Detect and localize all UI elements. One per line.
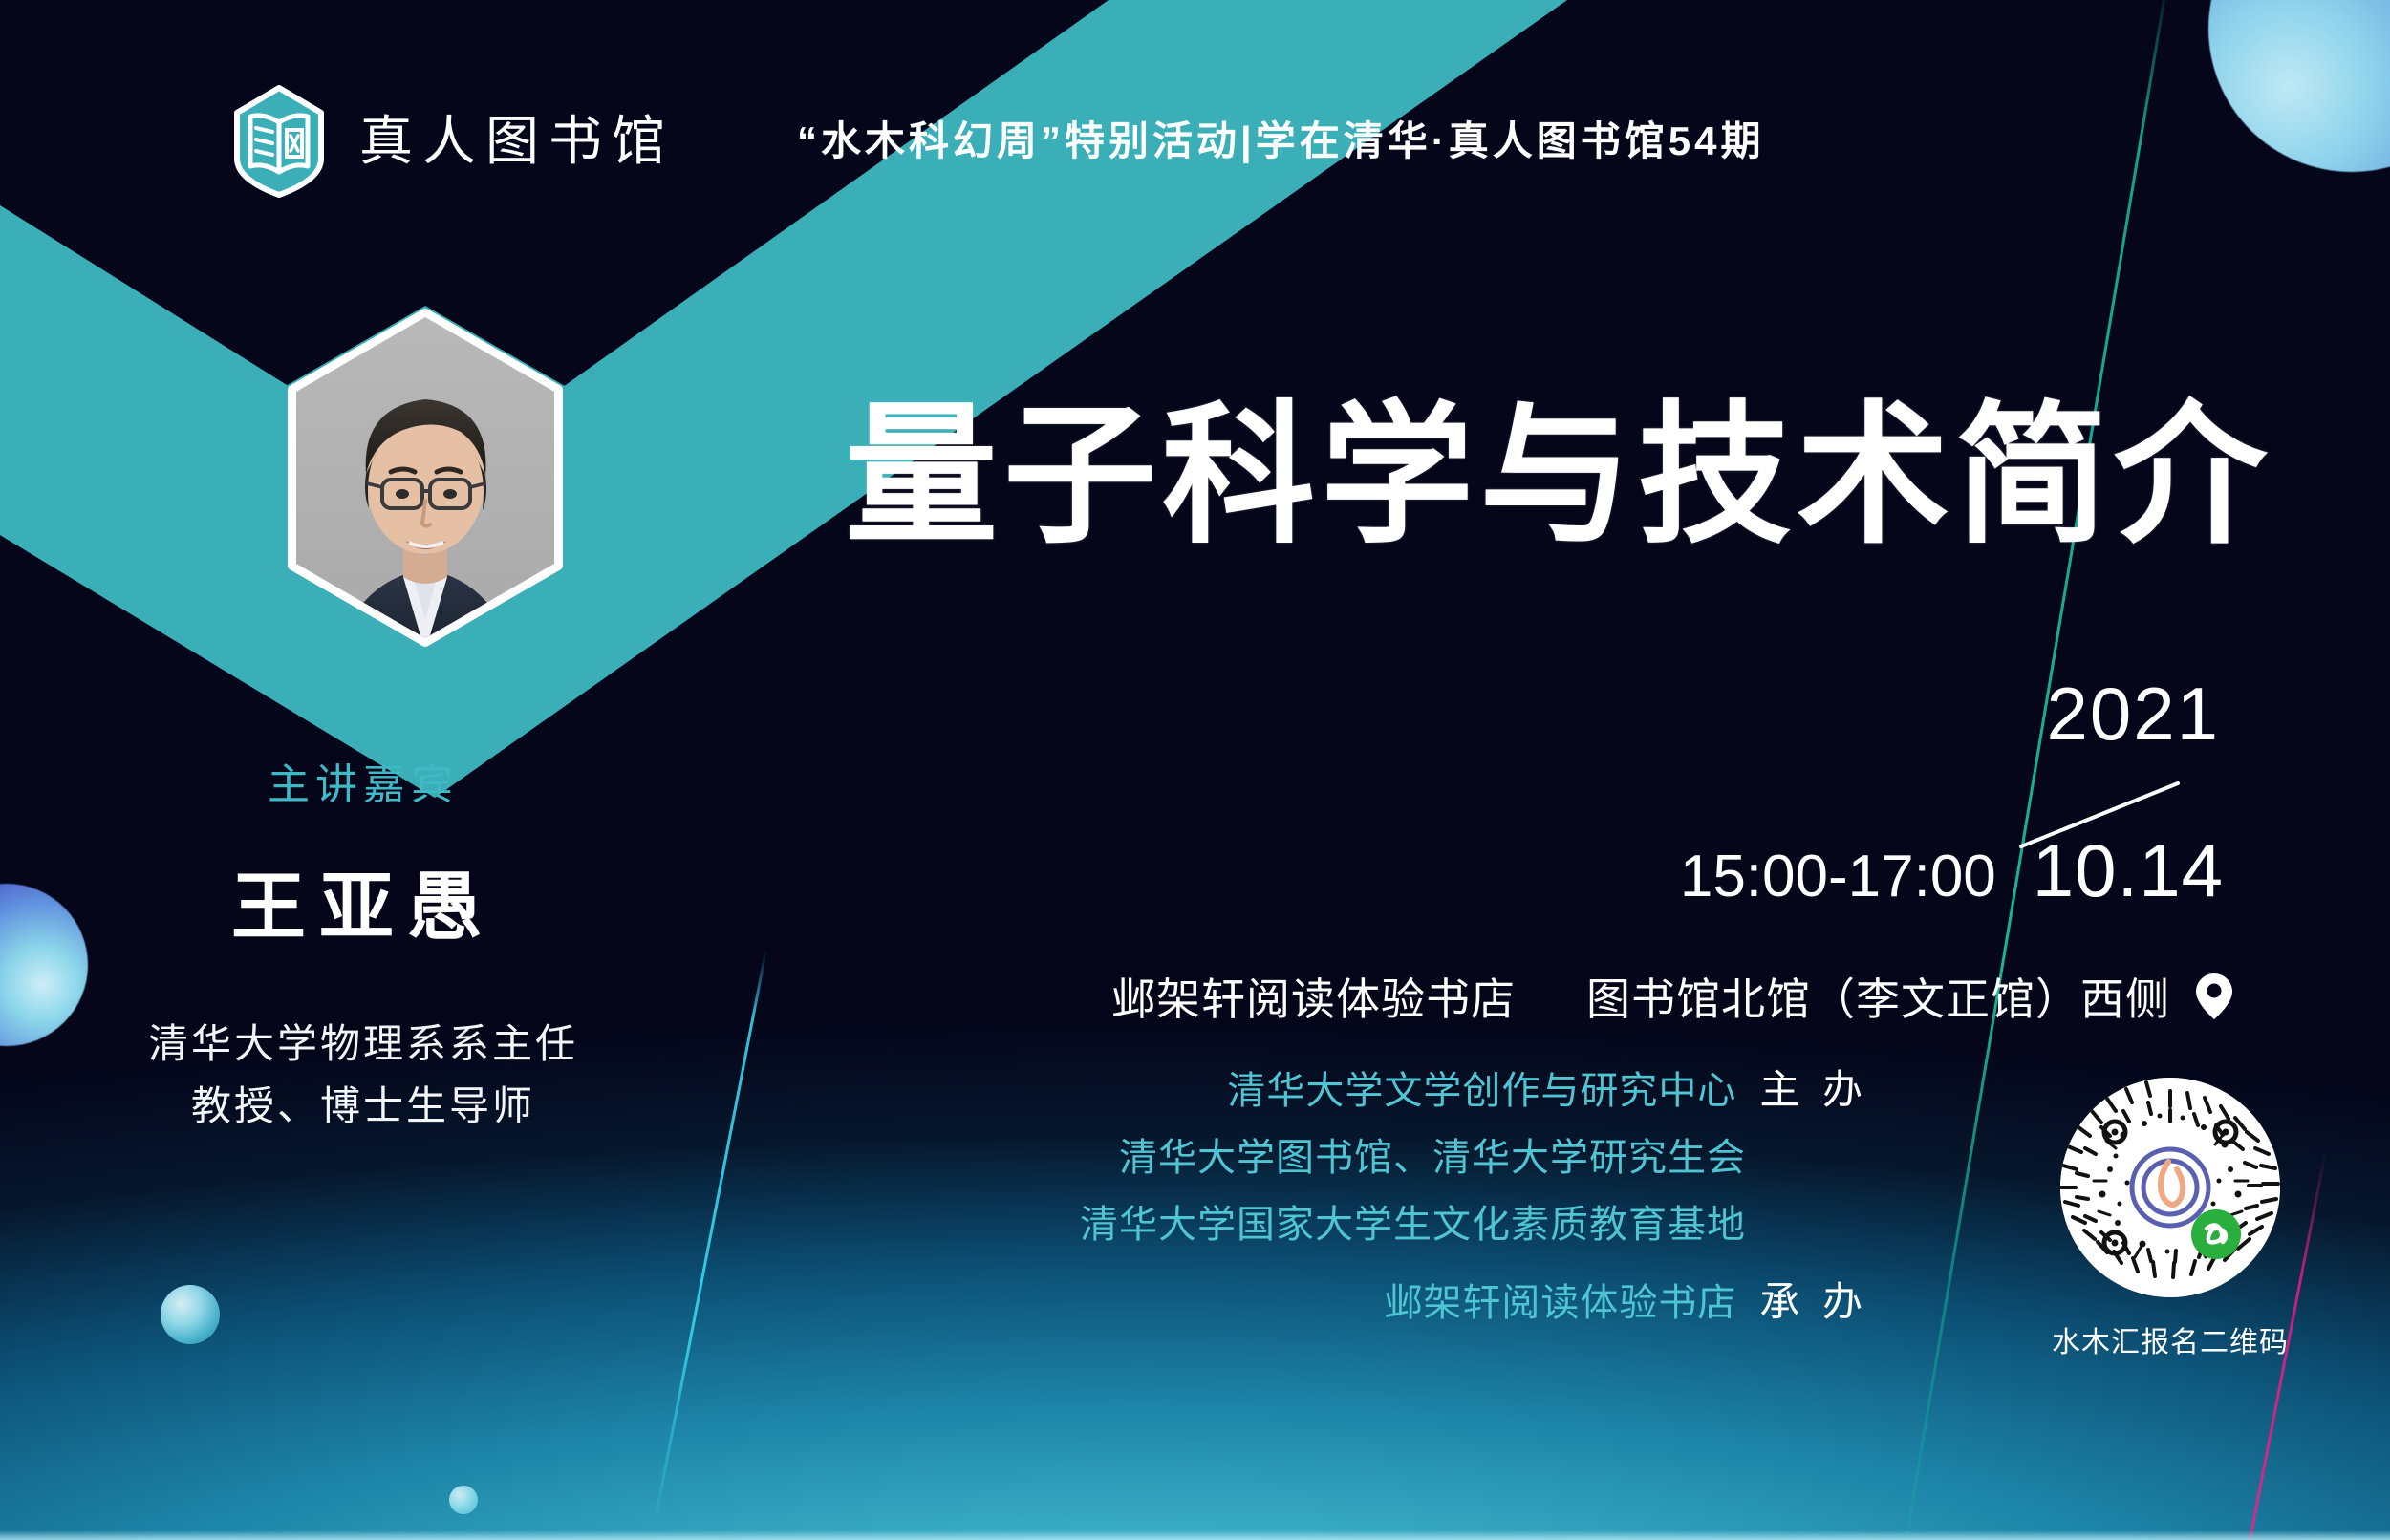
poster-header: 真人图书馆 “水木科幻周”特别活动|学在清华·真人图书馆54期: [0, 0, 2390, 199]
event-poster: 真人图书馆 “水木科幻周”特别活动|学在清华·真人图书馆54期: [0, 0, 2390, 1540]
event-year: 2021: [1612, 676, 2220, 751]
speaker-block: 主讲嘉宾 王亚愚 清华大学物理系系主任 教授、博士生导师: [0, 764, 726, 1137]
bottom-edge-highlight: [0, 1530, 2390, 1540]
brand-name: 真人图书馆: [359, 115, 675, 168]
organizer-row: 清华大学国家大学生文化素质教育基地: [1080, 1206, 1868, 1244]
event-kicker: “水木科幻周”特别活动|学在清华·真人图书馆54期: [797, 121, 1764, 161]
organizer-role-tag: 承 办: [1759, 1282, 1868, 1322]
speaker-title-line-1: 清华大学物理系系主任: [0, 1013, 726, 1075]
location-pin-icon: [2195, 972, 2233, 1021]
speaker-name: 王亚愚: [0, 869, 726, 944]
organizer-row: 邺架轩阅读体验书店 承 办: [1080, 1282, 1868, 1322]
event-time: 15:00-17:00: [1680, 847, 1996, 907]
organizer-name: 清华大学图书馆、清华大学研究生会: [1119, 1139, 1746, 1177]
qr-block: 水木汇报名二维码: [2052, 1078, 2289, 1360]
qr-caption: 水木汇报名二维码: [2052, 1318, 2289, 1360]
brand-lockup: 真人图书馆: [227, 84, 675, 199]
speaker-portrait: [269, 304, 581, 652]
poster-title: 量子科学与技术简介: [845, 394, 2272, 559]
organizer-name: 清华大学国家大学生文化素质教育基地: [1080, 1206, 1746, 1244]
decorative-bubble-small-1: [161, 1285, 220, 1344]
organizer-row: 清华大学图书馆、清华大学研究生会: [1080, 1139, 1868, 1177]
venue-row: 邺架轩阅读体验书店 图书馆北馆（李文正馆）西侧: [1111, 965, 2233, 1028]
speaker-portrait-hexagon: [269, 304, 581, 652]
wechat-miniprogram-qr-icon[interactable]: [2060, 1078, 2280, 1297]
venue-place: 邺架轩阅读体验书店: [1111, 965, 1516, 1028]
speaker-title-line-2: 教授、博士生导师: [0, 1075, 726, 1137]
open-book-badge-icon: [227, 84, 331, 199]
venue-detail: 图书馆北馆（李文正馆）西侧: [1586, 965, 2170, 1028]
decorative-bubble-small-2: [449, 1486, 478, 1514]
speaker-role-label: 主讲嘉宾: [0, 764, 726, 806]
organizer-name: 邺架轩阅读体验书店: [1384, 1284, 1736, 1322]
organizer-role-tag: 主 办: [1759, 1070, 1868, 1110]
organizer-list: 清华大学文学创作与研究中心 主 办 清华大学图书馆、清华大学研究生会 清华大学国…: [1080, 1070, 1868, 1351]
organizer-name: 清华大学文学创作与研究中心: [1227, 1072, 1736, 1110]
date-block: 2021 15:00-17:00 10.14: [1612, 676, 2224, 908]
organizer-row: 清华大学文学创作与研究中心 主 办: [1080, 1070, 1868, 1110]
date-divider-slash: [2017, 780, 2182, 850]
